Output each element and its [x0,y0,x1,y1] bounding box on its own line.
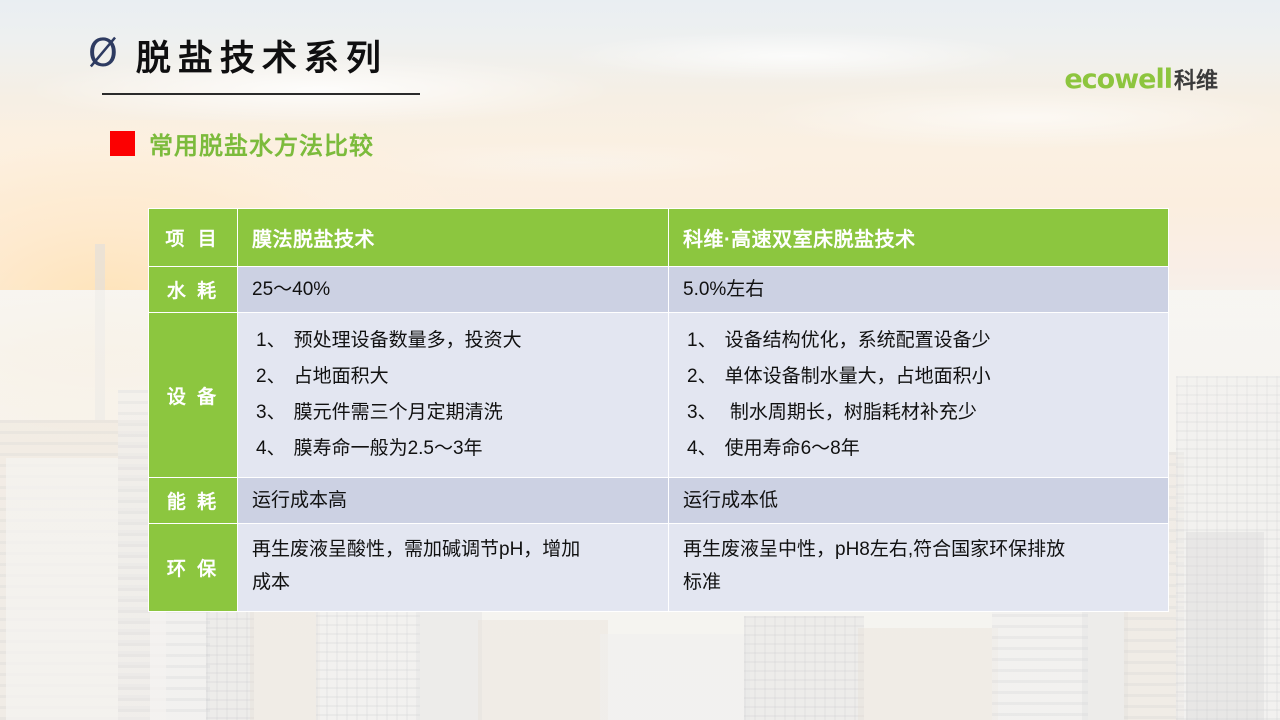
brand-logo: ecowell 科维 [1064,63,1218,95]
list-text: 预处理设备数量多，投资大 [294,330,522,351]
list-item: 3、膜元件需三个月定期清洗 [256,395,658,431]
list-index: 3、 [687,402,717,423]
list-index: 1、 [256,330,286,351]
list-index: 2、 [256,366,286,387]
cell-water-membrane: 25～40% [238,267,669,313]
text-line: 标准 [683,566,1158,599]
cell-environment-membrane: 再生废液呈酸性，需加碱调节pH，增加 成本 [238,524,669,612]
row-label-environment: 环 保 [149,524,238,612]
text-line: 再生废液呈酸性，需加碱调节pH，增加 [252,533,658,566]
list-item: 2、单体设备制水量大，占地面积小 [687,359,1158,395]
cell-environment-ecowell: 再生废液呈中性，pH8左右,符合国家环保排放 标准 [669,524,1169,612]
cell-energy-membrane: 运行成本高 [238,478,669,524]
list-item: 3、 制水周期长，树脂耗材补充少 [687,395,1158,431]
section-subtitle: 常用脱盐水方法比较 [110,126,374,161]
list-text: 使用寿命6～8年 [725,438,860,459]
equipment-membrane-list: 1、预处理设备数量多，投资大 2、占地面积大 3、膜元件需三个月定期清洗 4、膜… [256,323,658,467]
list-item: 2、占地面积大 [256,359,658,395]
text-line: 再生废液呈中性，pH8左右,符合国家环保排放 [683,533,1158,566]
list-index: 4、 [256,438,286,459]
list-index: 1、 [687,330,717,351]
comparison-table-wrap: 项 目 膜法脱盐技术 科维·高速双室床脱盐技术 水 耗 25～40% 5.0%左… [148,208,1168,612]
equipment-ecowell-list: 1、设备结构优化，系统配置设备少 2、单体设备制水量大，占地面积小 3、 制水周… [687,323,1158,467]
list-text: 膜寿命一般为2.5～3年 [294,438,483,459]
cell-equipment-membrane: 1、预处理设备数量多，投资大 2、占地面积大 3、膜元件需三个月定期清洗 4、膜… [238,313,669,478]
list-item: 1、设备结构优化，系统配置设备少 [687,323,1158,359]
row-label-water: 水 耗 [149,267,238,313]
table-row: 环 保 再生废液呈酸性，需加碱调节pH，增加 成本 再生废液呈中性，pH8左右,… [149,524,1169,612]
list-item: 1、预处理设备数量多，投资大 [256,323,658,359]
section-subtitle-text: 常用脱盐水方法比较 [149,126,374,161]
list-text: 设备结构优化，系统配置设备少 [725,330,991,351]
logo-latin-text: ecowell [1064,64,1172,95]
table-row: 水 耗 25～40% 5.0%左右 [149,267,1169,313]
comparison-table: 项 目 膜法脱盐技术 科维·高速双室床脱盐技术 水 耗 25～40% 5.0%左… [148,208,1169,612]
table-row: 设 备 1、预处理设备数量多，投资大 2、占地面积大 3、膜元件需三个月定期清洗… [149,313,1169,478]
cell-energy-ecowell: 运行成本低 [669,478,1169,524]
header-cell-membrane: 膜法脱盐技术 [238,209,669,267]
list-text: 占地面积大 [294,366,389,387]
page-title-text: 脱盐技术系列 [136,30,388,81]
list-index: 2、 [687,366,717,387]
cell-water-ecowell: 5.0%左右 [669,267,1169,313]
cell-equipment-ecowell: 1、设备结构优化，系统配置设备少 2、单体设备制水量大，占地面积小 3、 制水周… [669,313,1169,478]
title-divider [102,93,420,95]
row-label-equipment: 设 备 [149,313,238,478]
header-cell-ecowell: 科维·高速双室床脱盐技术 [669,209,1169,267]
list-text: 单体设备制水量大，占地面积小 [725,366,991,387]
list-text: 膜元件需三个月定期清洗 [294,402,503,423]
slashed-circle-icon: Ø [88,34,118,72]
table-header-row: 项 目 膜法脱盐技术 科维·高速双室床脱盐技术 [149,209,1169,267]
list-item: 4、使用寿命6～8年 [687,431,1158,467]
page-title: Ø 脱盐技术系列 [88,30,388,81]
list-item: 4、膜寿命一般为2.5～3年 [256,431,658,467]
slide-canvas: Ø 脱盐技术系列 ecowell 科维 常用脱盐水方法比较 项 目 膜法脱盐技术… [0,0,1280,720]
logo-chinese-text: 科维 [1174,63,1218,95]
red-square-bullet-icon [110,131,135,156]
table-row: 能 耗 运行成本高 运行成本低 [149,478,1169,524]
text-line: 成本 [252,566,658,599]
list-index: 4、 [687,438,717,459]
list-index: 3、 [256,402,286,423]
list-text: 制水周期长，树脂耗材补充少 [725,402,977,423]
header-cell-item: 项 目 [149,209,238,267]
row-label-energy: 能 耗 [149,478,238,524]
